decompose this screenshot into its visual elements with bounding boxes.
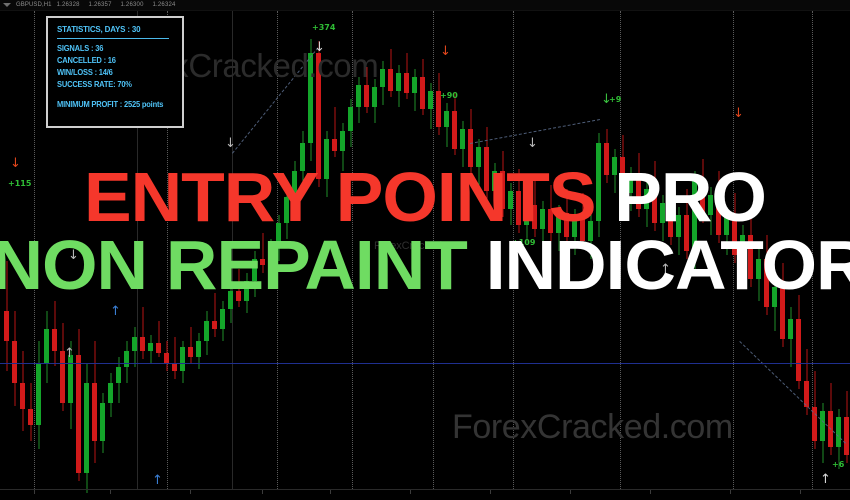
promo-headline: ENTRY POINTS PRO NON REPAINT INDICATOR [0,165,850,298]
candle-wick [174,337,175,379]
candle-body [364,85,369,107]
headline-entry-points: ENTRY POINTS [84,158,595,236]
headline-pro: PRO [614,158,766,236]
x-axis-tick [490,490,491,494]
candle-body [788,319,793,339]
candle-body [348,107,353,131]
candle-body [332,139,337,151]
candle-body [356,85,361,107]
sell-signal-arrow-icon: ↓ [225,137,236,150]
candle-body [420,77,425,109]
x-axis-tick [410,490,411,494]
candle-body [132,337,137,351]
profit-label: +374 [312,23,335,32]
buy-signal-arrow-icon: ↑ [820,473,831,486]
stats-minimum-profit: MINIMUM PROFIT : 2525 points [57,101,167,109]
stats-success-rate: SUCCESS RATE: 70% [57,81,167,89]
profit-label: +9 [609,95,621,104]
sell-signal-arrow-icon: ↓ [440,45,451,58]
mt4-chart-screenshot: GBPUSD,H1 1.26328 1.26357 1.26300 1.2632… [0,0,850,500]
candle-body [460,129,465,149]
stats-cancelled: CANCELLED : 16 [57,57,167,65]
candle-wick [190,327,191,363]
candle-wick [142,307,143,359]
candle-body [76,355,81,473]
triangle-down-icon[interactable] [3,3,11,7]
candle-body [796,319,801,381]
candle-body [180,347,185,371]
headline-indicator: INDICATOR [486,226,850,304]
candle-body [396,73,401,91]
quote-close: 1.26324 [152,2,175,8]
x-axis-tick [34,490,35,494]
stats-signals: SIGNALS : 36 [57,45,167,53]
candle-body [404,73,409,93]
candle-body [412,77,417,93]
profit-label: +90 [440,91,458,100]
candle-body [452,111,457,149]
stats-title: STATISTICS, DAYS : 30 [57,25,167,34]
quote-open: 1.26328 [57,2,80,8]
candle-body [4,311,9,341]
statistics-panel: STATISTICS, DAYS : 30 SIGNALS : 36 CANCE… [46,16,184,128]
candle-body [220,309,225,329]
candle-body [340,131,345,151]
stats-spacer [57,93,174,99]
candle-body [212,321,217,329]
candle-body [124,351,129,367]
candle-body [12,341,17,383]
x-axis-tick [330,490,331,494]
headline-non-repaint: NON REPAINT [0,226,467,304]
sell-signal-arrow-icon: ↓ [733,107,744,120]
symbol-label: GBPUSD,H1 [16,2,52,8]
x-axis-tick [570,490,571,494]
candle-body [196,341,201,357]
candle-body [844,417,849,455]
x-axis-tick [800,490,801,494]
candle-body [188,347,193,357]
candle-body [36,363,41,425]
quote-low: 1.26300 [121,2,144,8]
candle-body [428,91,433,109]
quote-values: 1.26328 1.26357 1.26300 1.26324 [57,2,183,8]
candle-body [156,343,161,353]
candle-body [84,383,89,473]
candle-body [28,409,33,425]
horizontal-price-line [0,363,850,364]
candle-body [836,417,841,447]
candle-body [204,321,209,341]
watermark-bottom: ForexCracked.com [452,408,733,447]
candle-body [820,411,825,441]
x-axis-tick [110,490,111,494]
stats-win-loss: WIN/LOSS : 14/6 [57,69,167,77]
x-axis [0,489,850,500]
candle-body [372,87,377,107]
candle-body [92,383,97,441]
x-axis-tick [650,490,651,494]
x-axis-tick [730,490,731,494]
headline-line-2: NON REPAINT INDICATOR [0,233,850,297]
buy-signal-arrow-icon: ↑ [152,474,163,487]
candle-body [116,367,121,383]
x-axis-tick [262,490,263,494]
candle-body [20,383,25,409]
candle-body [108,383,113,403]
stats-divider [57,38,169,39]
profit-label: +6 [832,460,844,469]
quote-high: 1.26357 [89,2,112,8]
x-axis-tick [190,490,191,494]
candle-body [140,337,145,351]
candle-body [52,329,57,351]
candle-body [388,69,393,91]
terminal-info-bar: GBPUSD,H1 1.26328 1.26357 1.26300 1.2632… [0,0,850,11]
candle-body [148,343,153,351]
candle-body [444,111,449,127]
buy-signal-arrow-icon: ↑ [64,347,75,360]
candle-body [100,403,105,441]
sell-signal-arrow-icon: ↓ [527,137,538,150]
headline-line-1: ENTRY POINTS PRO [0,165,850,229]
candle-body [44,329,49,363]
candle-body [380,69,385,87]
candle-body [164,353,169,363]
buy-signal-arrow-icon: ↑ [110,305,121,318]
candle-body [172,363,177,371]
